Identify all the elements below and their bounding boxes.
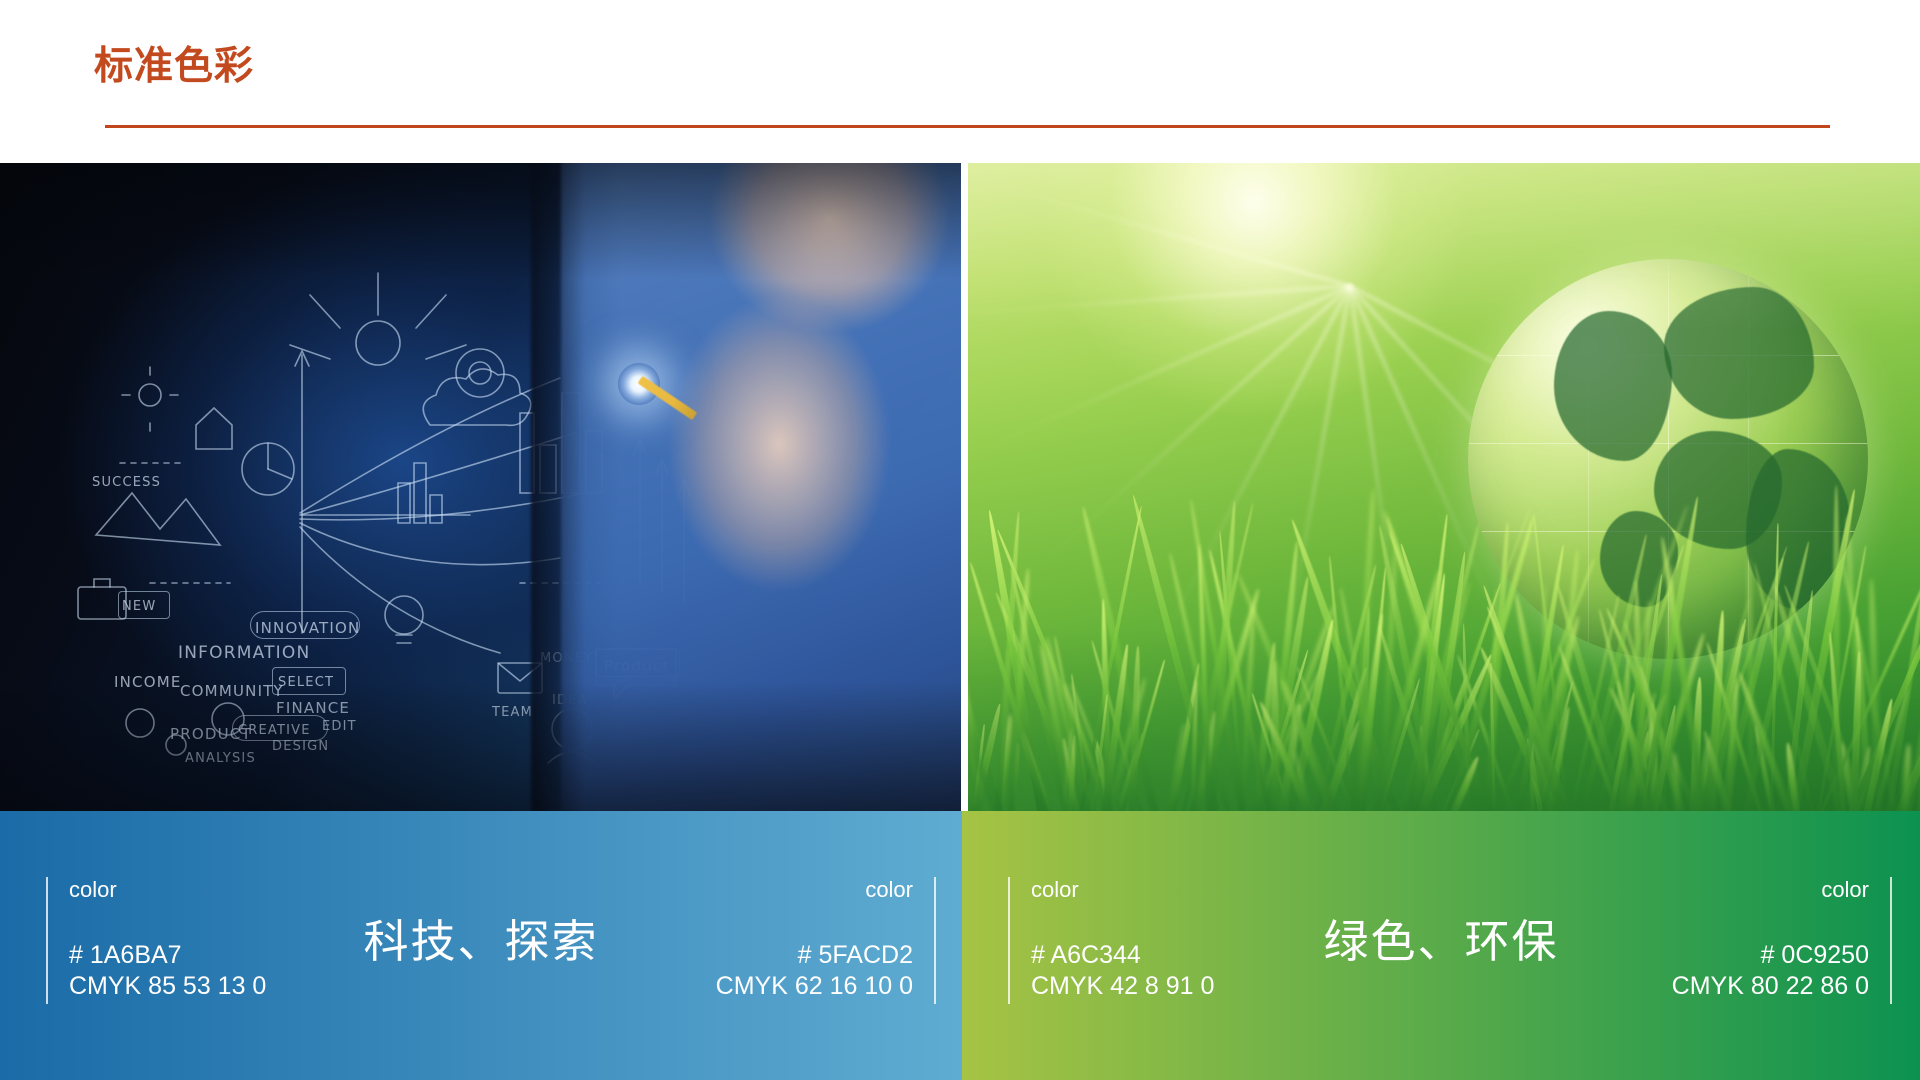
swatch-panel-eco: color # A6C344 CMYK 42 8 91 0 绿色、环保 colo… <box>962 811 1920 1080</box>
tech-photo-vignette <box>0 163 961 811</box>
swatch-cmyk: CMYK 85 53 13 0 <box>69 971 266 1002</box>
slide-root: 标准色彩 <box>0 0 1920 1080</box>
eco-photo-vignette <box>968 163 1920 811</box>
title-divider-rule <box>105 125 1830 128</box>
eco-photo-panel: {} <box>968 163 1920 811</box>
swatch-caption: color <box>1031 877 1214 903</box>
swatch-hex: # 0C9250 <box>1672 940 1869 971</box>
swatch-cmyk: CMYK 42 8 91 0 <box>1031 971 1214 1002</box>
page-title: 标准色彩 <box>94 44 254 90</box>
swatch-caption: color <box>1672 877 1869 903</box>
color-swatch-bar: color # 1A6BA7 CMYK 85 53 13 0 科技、探索 col… <box>0 811 1920 1080</box>
swatch-info-right-tech: color # 5FACD2 CMYK 62 16 10 0 <box>716 877 936 1002</box>
slide-header: 标准色彩 <box>0 0 1920 163</box>
swatch-caption: color <box>69 877 266 903</box>
swatch-hex: # 5FACD2 <box>716 940 913 971</box>
swatch-cmyk: CMYK 80 22 86 0 <box>1672 971 1869 1002</box>
swatch-panel-tech: color # 1A6BA7 CMYK 85 53 13 0 科技、探索 col… <box>0 811 962 1080</box>
swatch-caption: color <box>716 877 913 903</box>
tech-photo-panel: SUCCESS INNOVATION INFORMATION INCOME CO… <box>0 163 961 811</box>
swatch-info-right-eco: color # 0C9250 CMYK 80 22 86 0 <box>1672 877 1892 1002</box>
swatch-cmyk: CMYK 62 16 10 0 <box>716 971 913 1002</box>
image-band: SUCCESS INNOVATION INFORMATION INCOME CO… <box>0 163 1920 811</box>
